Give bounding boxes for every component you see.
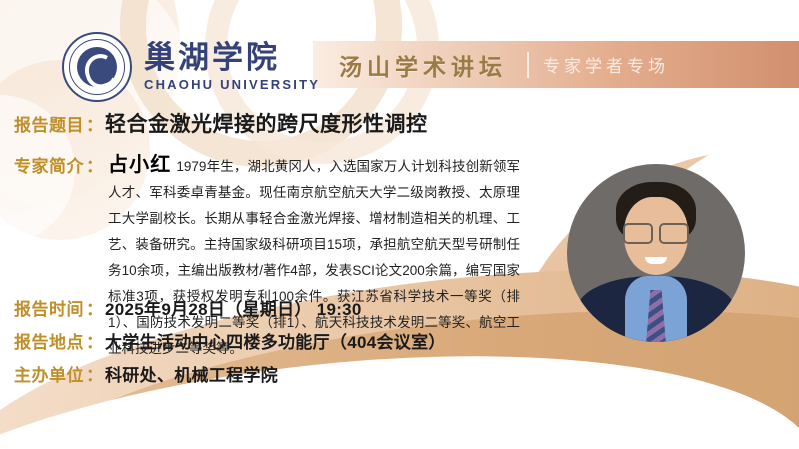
report-place-value: 大学生活动中心四楼多功能厅（404会议室）: [105, 328, 446, 353]
report-place-label: 报告地点: [14, 328, 84, 353]
report-title-value: 轻合金激光焊接的跨尺度形性调控: [105, 108, 428, 138]
organizer-value: 科研处、机械工程学院: [105, 361, 278, 386]
field-organizer: 主办单位 ： 科研处、机械工程学院: [14, 361, 278, 386]
report-place-colon: ：: [86, 328, 103, 353]
poster-content: 报告题目 ： 轻合金激光焊接的跨尺度形性调控 专家简介 ： 占小红1979年生，…: [0, 0, 799, 449]
report-time-label: 报告时间: [14, 295, 84, 320]
field-report-place: 报告地点 ： 大学生活动中心四楼多功能厅（404会议室）: [14, 328, 446, 353]
field-report-time: 报告时间 ： 2025年9月28日（星期日） 19:30: [14, 295, 362, 320]
speaker-bio-text: 1979年生，湖北黄冈人，入选国家万人计划科技创新领军人才、军科委卓青基金。现任…: [108, 159, 520, 356]
seminar-poster: 汤山学术讲坛 专家学者专场 巢湖学院 CHAOHU UNIVERSITY 报告题…: [0, 0, 799, 449]
report-time-value: 2025年9月28日（星期日） 19:30: [105, 295, 362, 320]
organizer-label: 主办单位: [14, 361, 84, 386]
organizer-colon: ：: [86, 361, 103, 386]
report-title-label: 报告题目: [14, 111, 84, 136]
field-report-title: 报告题目 ： 轻合金激光焊接的跨尺度形性调控: [14, 108, 428, 138]
speaker-bio-colon: ：: [86, 152, 103, 177]
speaker-name: 占小红: [108, 154, 171, 176]
report-title-colon: ：: [86, 111, 103, 136]
speaker-bio-label: 专家简介: [14, 152, 84, 177]
report-time-colon: ：: [86, 295, 103, 320]
